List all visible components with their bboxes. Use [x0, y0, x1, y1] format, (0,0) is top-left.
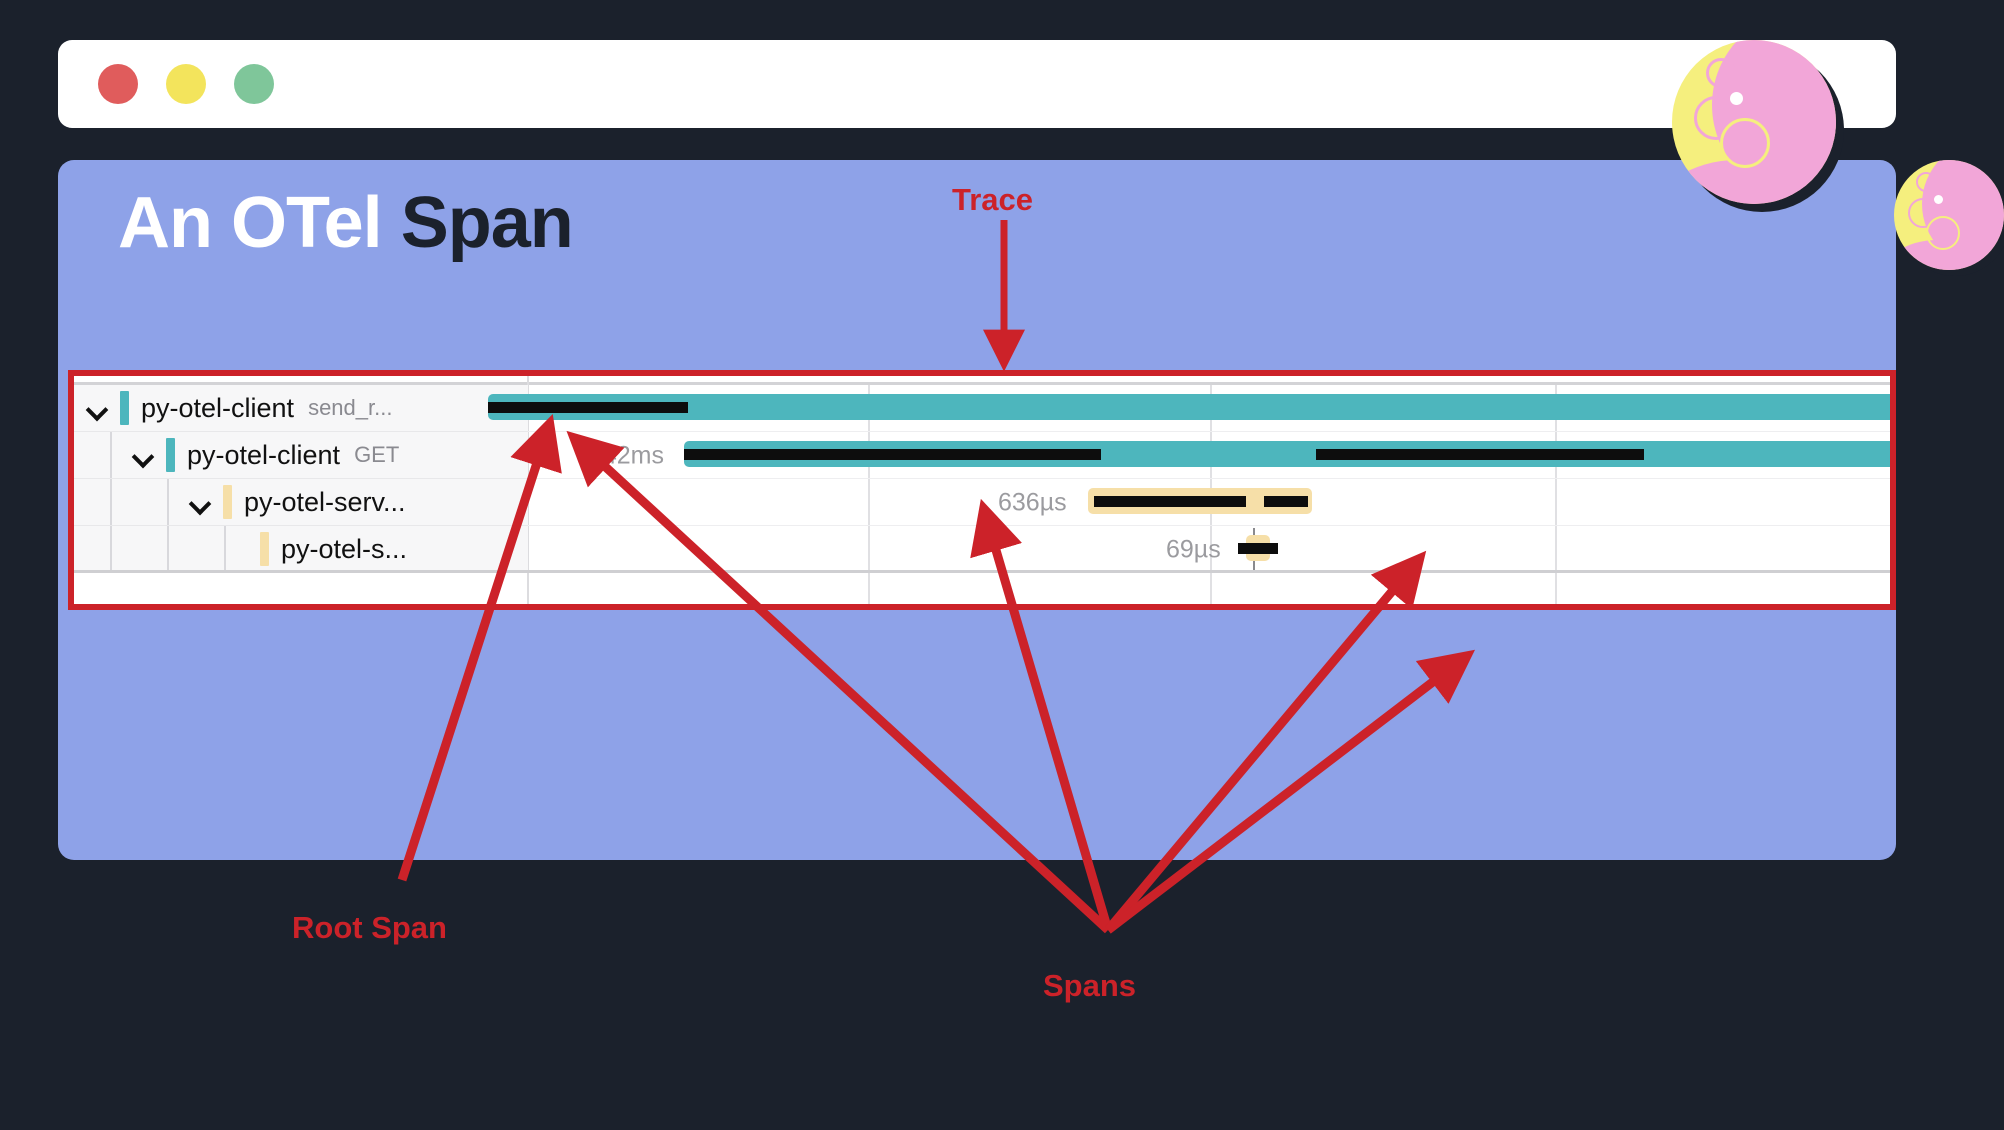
arrow-span-3: [1108, 570, 1410, 930]
planet-decoration-small: [1894, 160, 2004, 276]
annotation-label-root-span: Root Span: [292, 910, 447, 946]
planet-highlight-dot: [1730, 92, 1743, 105]
planet-crater: [1720, 118, 1770, 168]
planet-body: [1894, 160, 2004, 270]
arrow-span-4: [1108, 665, 1455, 930]
annotation-label-trace: Trace: [952, 182, 1033, 218]
planet-body: [1672, 40, 1836, 204]
planet-crater: [1916, 172, 1936, 192]
arrow-root-span: [402, 438, 545, 880]
planet-crater: [1926, 216, 1960, 250]
planet-crater: [1934, 162, 1960, 188]
planet-highlight-dot: [1934, 195, 1943, 204]
arrow-span-1: [585, 448, 1108, 930]
annotation-label-spans: Spans: [1043, 968, 1136, 1004]
planet-crater: [1730, 42, 1768, 80]
planet-decoration-large: [1672, 40, 1844, 212]
